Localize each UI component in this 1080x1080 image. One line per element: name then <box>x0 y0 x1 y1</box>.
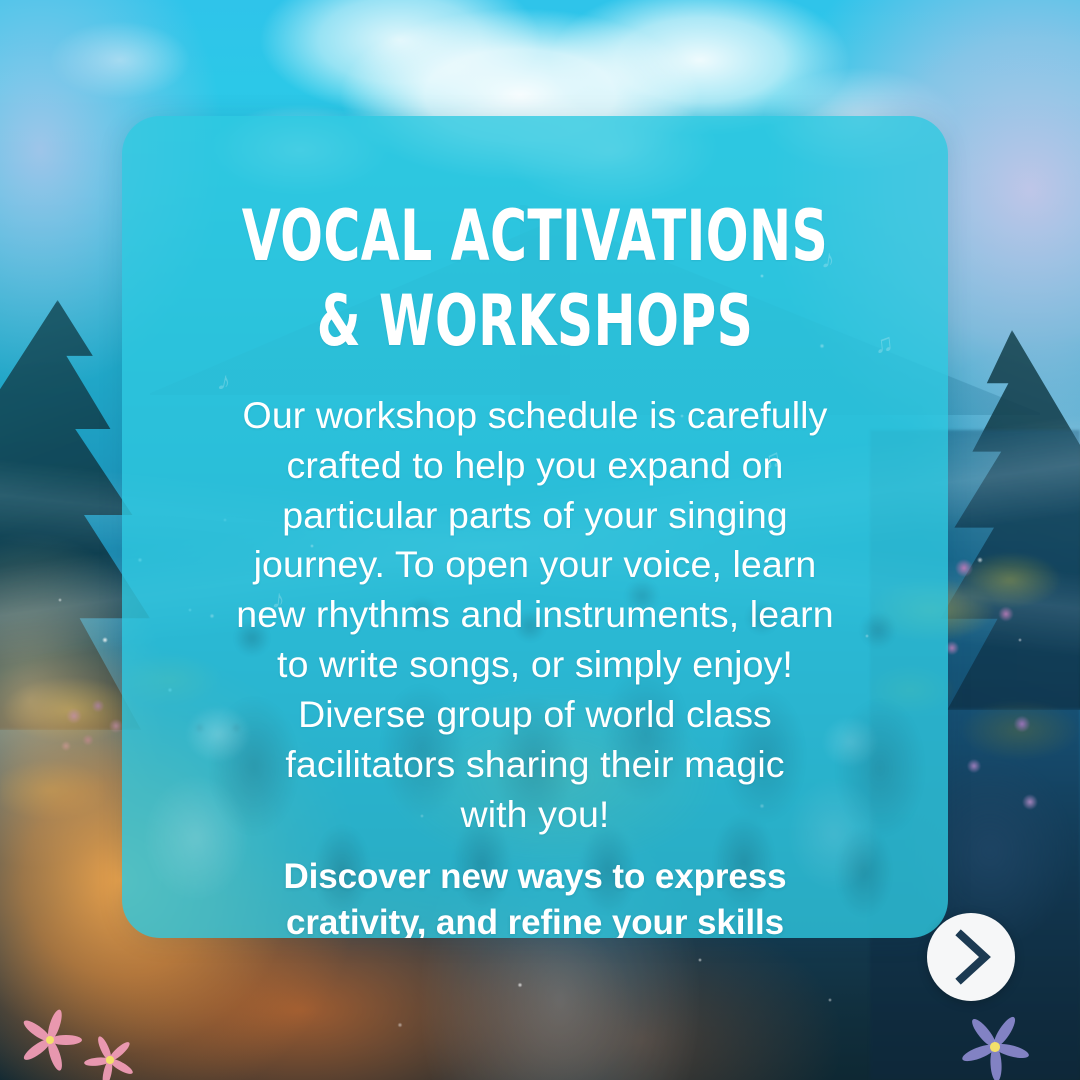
page-title: VOCAL ACTIVATIONS & WORKSHOPS <box>241 194 828 365</box>
lotus-blossom-icon <box>18 1008 82 1072</box>
body-paragraph: Our workshop schedule is carefully craft… <box>168 391 902 840</box>
lotus-blossom-icon <box>960 1012 1030 1080</box>
content-card: ♪ ♫ ♪ ♫ ♪ VOCAL ACTIVATIONS & WORKSHOPS … <box>122 116 948 938</box>
card-content: VOCAL ACTIVATIONS & WORKSHOPS Our worksh… <box>122 116 948 938</box>
kicker-text: Discover new ways to express crativity, … <box>168 854 902 938</box>
next-slide-button[interactable] <box>927 913 1015 1001</box>
lotus-blossom-icon <box>84 1034 136 1080</box>
instagram-carousel-slide: ♪ ♫ ♪ ♫ ♪ VOCAL ACTIVATIONS & WORKSHOPS … <box>0 0 1080 1080</box>
chevron-right-icon <box>949 929 993 985</box>
